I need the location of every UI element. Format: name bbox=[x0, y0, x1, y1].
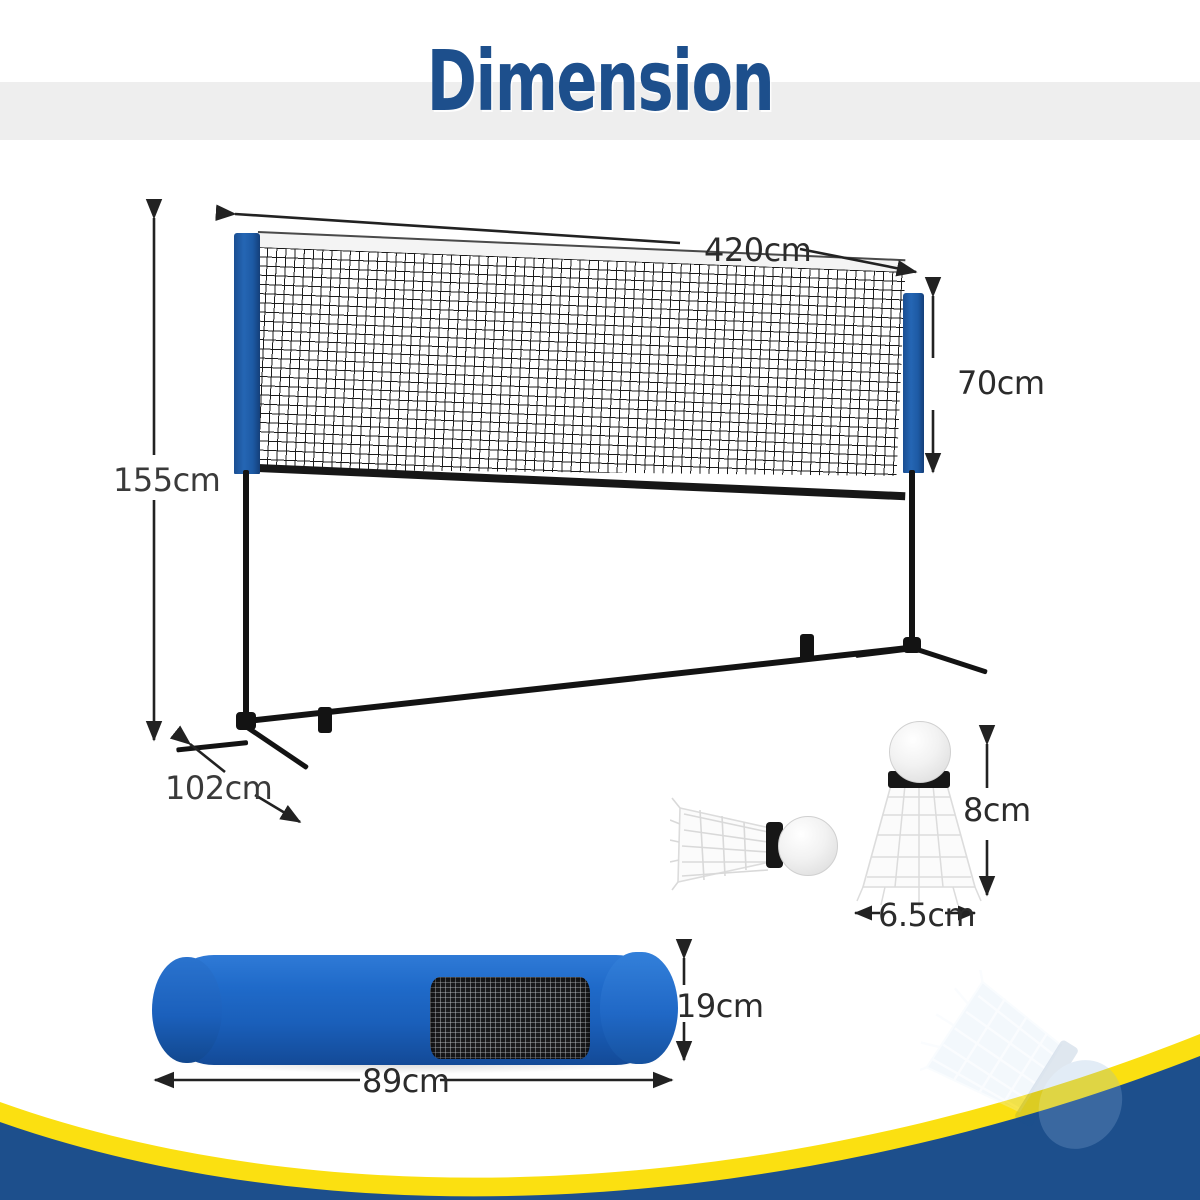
label-net-width: 420cm bbox=[704, 231, 811, 269]
label-net-height: 70cm bbox=[957, 364, 1044, 402]
dimension-infographic: Dimension bbox=[0, 0, 1200, 1200]
label-total-height: 155cm bbox=[113, 461, 220, 499]
shuttlecock-left-cork bbox=[778, 816, 838, 876]
label-bag-length: 89cm bbox=[362, 1062, 449, 1100]
label-base-width: 102cm bbox=[165, 769, 272, 807]
shuttlecock-watermark-icon bbox=[920, 970, 1170, 1190]
label-shuttle-diameter: 6.5cm bbox=[878, 896, 975, 934]
label-bag-diameter: 19cm bbox=[676, 987, 763, 1025]
shuttlecock-left bbox=[670, 790, 840, 900]
label-shuttle-height: 8cm bbox=[963, 791, 1031, 829]
shuttlecock-right-cork bbox=[889, 721, 951, 783]
